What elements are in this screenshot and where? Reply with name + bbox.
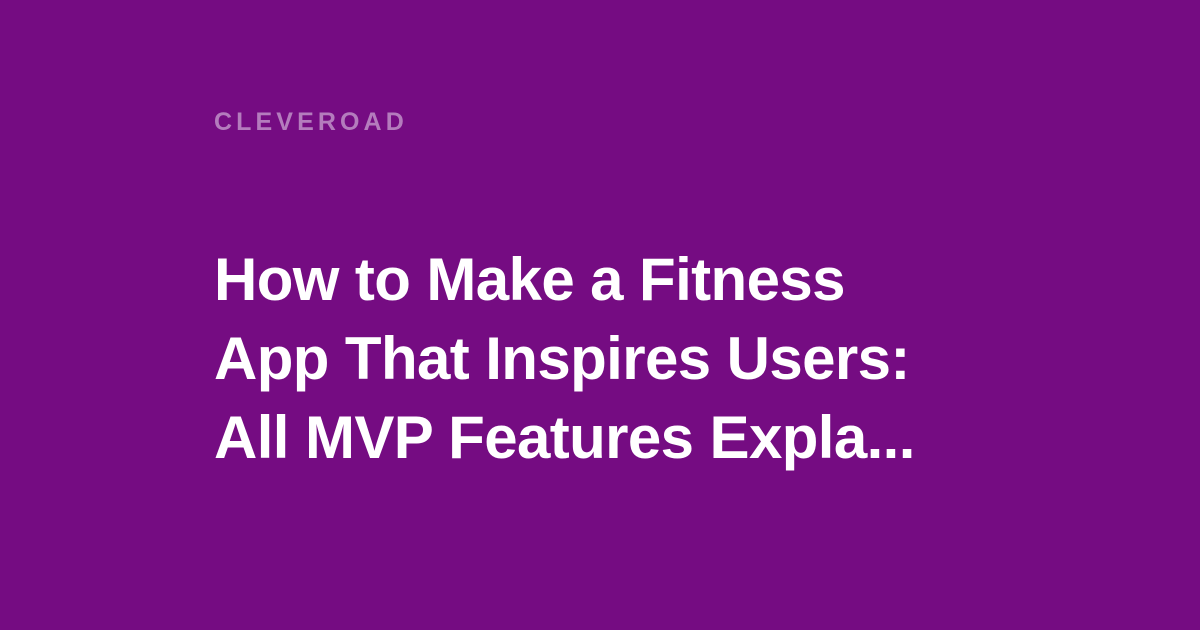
headline-line-2: App That Inspires Users: (214, 319, 974, 398)
social-share-card: CLEVEROAD How to Make a Fitness App That… (0, 0, 1200, 630)
headline-line-3: All MVP Features Expla... (214, 398, 974, 477)
headline-line-1: How to Make a Fitness (214, 240, 974, 319)
brand-logo: CLEVEROAD (214, 108, 408, 136)
headline: How to Make a Fitness App That Inspires … (214, 240, 974, 477)
